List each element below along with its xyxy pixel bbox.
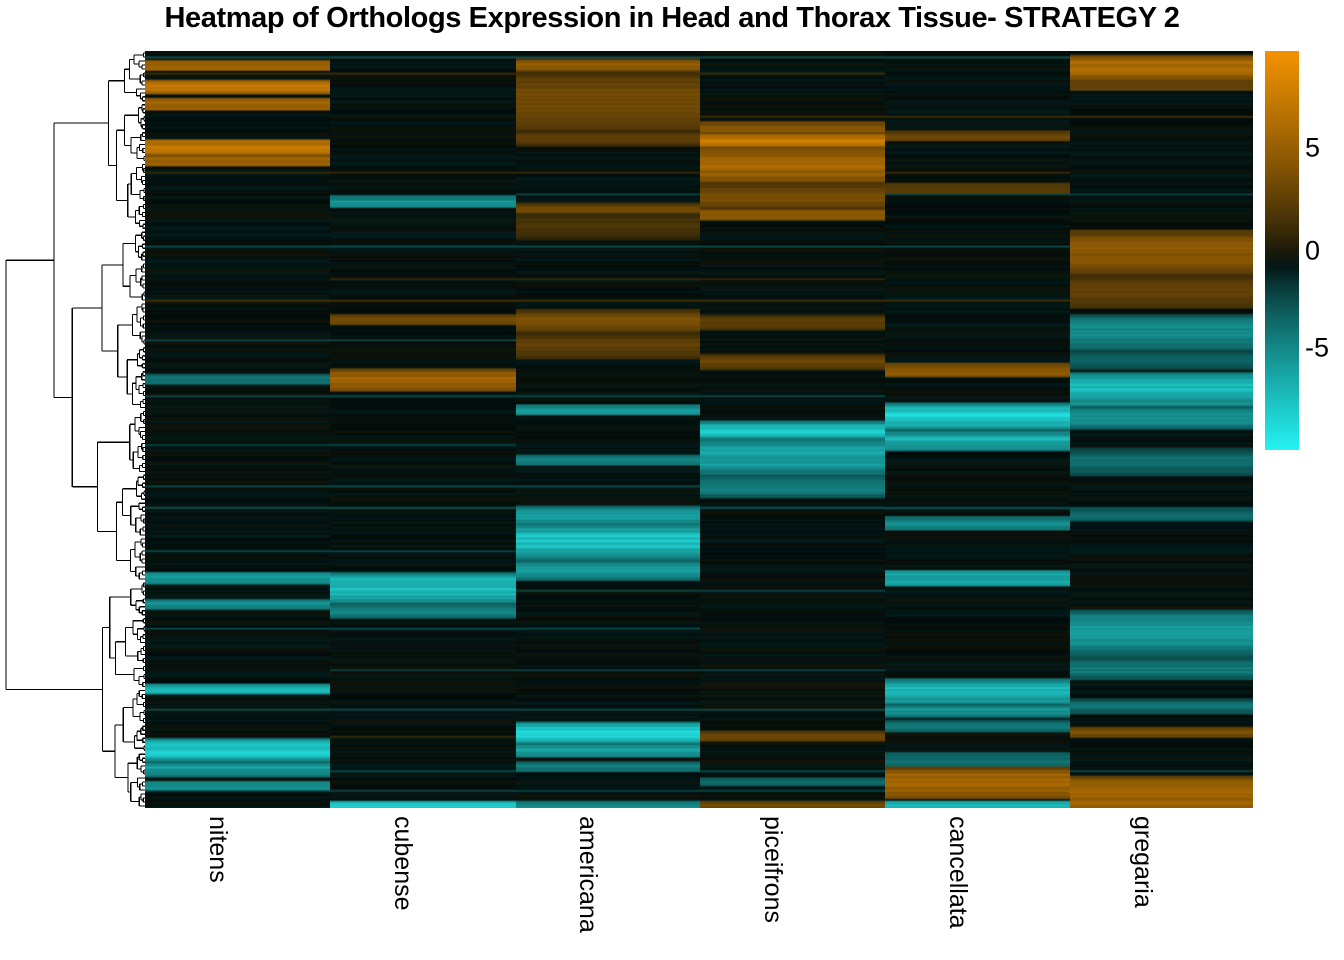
heatmap-column-canvas [330, 51, 516, 808]
heatmap-column-canvas [700, 51, 885, 808]
heatmap-column-canvas [1070, 51, 1253, 808]
heatmap-grid [145, 51, 1253, 808]
dendrogram-svg [4, 51, 145, 808]
colorbar-tick-neg5: -5 [1305, 333, 1329, 364]
heatmap-column-nitens [145, 51, 330, 808]
heatmap-column-gregaria [1070, 51, 1253, 808]
colorbar-gradient [1265, 51, 1299, 450]
heatmap-column-americana [516, 51, 700, 808]
page-title: Heatmap of Orthologs Expression in Head … [0, 2, 1344, 35]
column-label-nitens: nitens [203, 816, 232, 883]
column-label-gregaria: gregaria [1128, 816, 1157, 908]
colorbar-tick-0: 0 [1305, 236, 1320, 267]
heatmap-column-canvas [145, 51, 330, 808]
heatmap-figure: Heatmap of Orthologs Expression in Head … [0, 0, 1344, 960]
column-label-cubense: cubense [388, 816, 417, 911]
column-label-cancellata: cancellata [943, 816, 972, 929]
colorbar [1265, 51, 1299, 450]
heatmap-column-piceifrons [700, 51, 885, 808]
colorbar-tick-5: 5 [1305, 133, 1320, 164]
column-label-americana: americana [573, 816, 602, 933]
row-dendrogram [4, 51, 145, 808]
column-label-piceifrons: piceifrons [758, 816, 787, 923]
heatmap-column-cubense [330, 51, 516, 808]
heatmap-column-cancellata [885, 51, 1070, 808]
heatmap-column-canvas [516, 51, 700, 808]
dendrogram-branches [6, 53, 145, 806]
heatmap-column-canvas [885, 51, 1070, 808]
